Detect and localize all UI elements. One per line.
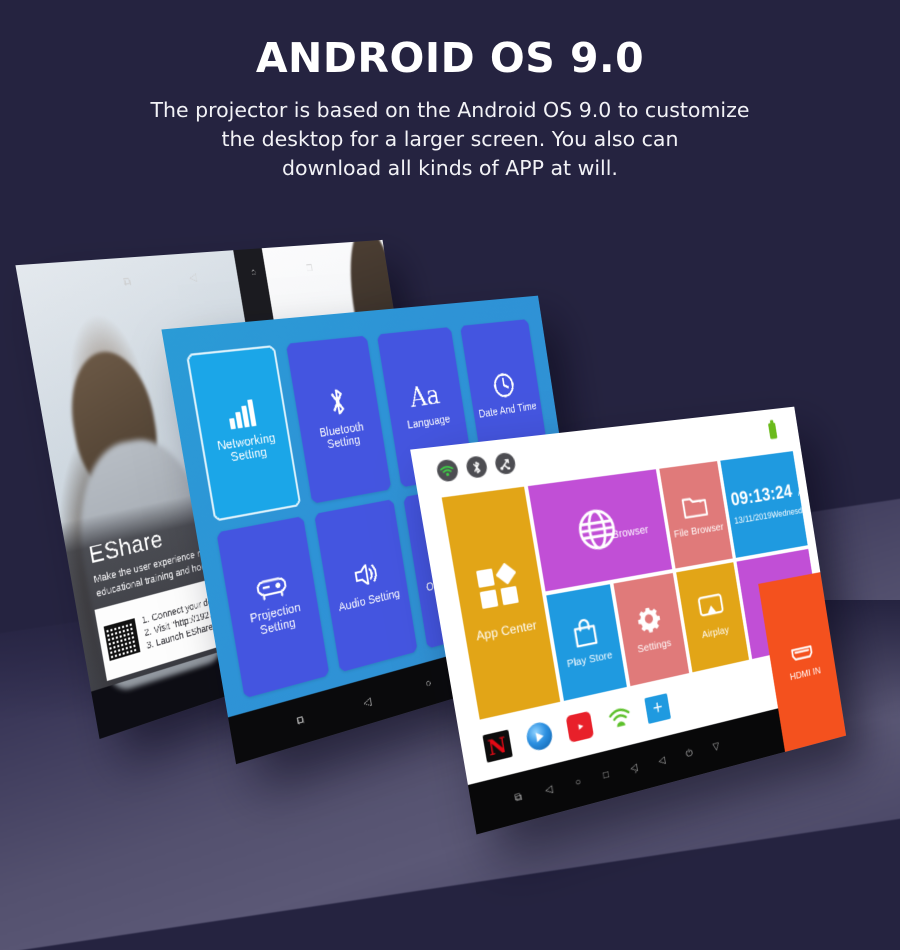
- tile-label: Bluetooth Setting: [304, 419, 380, 456]
- tile-label: Networking Setting: [205, 430, 289, 469]
- home-nav-icon[interactable]: ○: [574, 776, 581, 789]
- screenshot-nav-icon[interactable]: ⧉: [514, 791, 523, 804]
- language-aa-icon: Aa: [408, 381, 441, 411]
- back-nav-icon[interactable]: ◁: [544, 784, 553, 797]
- youtube-icon[interactable]: [566, 711, 594, 743]
- tile-airplay[interactable]: Airplay: [676, 562, 748, 671]
- wifi-status-icon[interactable]: [435, 459, 459, 483]
- tile-label: Projection Setting: [235, 599, 317, 644]
- clock-icon: [492, 371, 517, 400]
- netflix-icon[interactable]: N: [482, 730, 512, 763]
- battery-icon: [768, 423, 778, 440]
- bluetooth-icon: [324, 385, 351, 418]
- plus-icon[interactable]: +: [644, 694, 671, 725]
- folder-icon: [680, 491, 709, 520]
- subtitle-line-2: the desktop for a larger screen. You als…: [0, 125, 900, 154]
- tile-label: Settings: [637, 637, 673, 656]
- tile-bluetooth-setting[interactable]: Bluetooth Setting: [286, 335, 391, 504]
- subtitle-line-1: The projector is based on the Android OS…: [0, 96, 900, 125]
- usb-status-icon[interactable]: [493, 452, 516, 475]
- back-nav-icon[interactable]: ◁: [362, 694, 372, 709]
- screenshot-nav-icon[interactable]: ⧉: [296, 713, 306, 729]
- app-center-icon: [474, 561, 525, 614]
- tile-settings[interactable]: Settings: [613, 573, 689, 686]
- back-nav-icon[interactable]: ◁: [188, 270, 198, 284]
- tile-label: Play Store: [566, 649, 613, 671]
- screenshot-nav-icon[interactable]: ⧉: [122, 276, 132, 290]
- tile-label: HDMI IN: [789, 665, 821, 683]
- tile-label: Audio Setting: [338, 588, 401, 615]
- tile-label: Date And Time: [478, 401, 537, 422]
- tile-audio-setting[interactable]: Audio Setting: [314, 500, 417, 673]
- tile-label: Language: [407, 413, 451, 432]
- bluetooth-status-icon[interactable]: [464, 456, 488, 480]
- volume-down-nav-icon[interactable]: ◁̦: [630, 762, 639, 775]
- page-title: ANDROID OS 9.0: [0, 34, 900, 82]
- header: ANDROID OS 9.0 The projector is based on…: [0, 34, 900, 183]
- volume-up-nav-icon[interactable]: ◁: [658, 755, 666, 767]
- shopping-bag-icon: [571, 616, 600, 649]
- clock-date: 13/11/2019: [734, 510, 773, 526]
- globe-icon: [574, 506, 619, 554]
- tile-file-browser[interactable]: File Browser: [659, 461, 732, 569]
- eshare-wifi-icon[interactable]: [606, 702, 634, 733]
- tile-app-center[interactable]: App Center: [441, 486, 560, 719]
- tile-networking-setting[interactable]: Networking Setting: [186, 345, 301, 522]
- gear-icon: [636, 603, 665, 635]
- tile-play-store[interactable]: Play Store: [546, 584, 626, 700]
- photo-head-back: [61, 347, 166, 500]
- tile-browser[interactable]: Browser: [528, 469, 672, 592]
- hdmi-icon: [789, 640, 815, 665]
- promo-banner: ANDROID OS 9.0 The projector is based on…: [0, 0, 900, 950]
- signal-bars-icon: [225, 399, 259, 431]
- tile-label: App Center: [475, 618, 538, 644]
- tile-projection-setting[interactable]: Projection Setting: [217, 517, 329, 699]
- airplay-icon: [697, 592, 726, 623]
- home-nav-icon[interactable]: ○: [425, 677, 432, 690]
- collapse-nav-icon[interactable]: ▽: [712, 741, 720, 753]
- tile-label: Browser: [611, 524, 649, 542]
- clock-ampm: AM: [797, 487, 808, 498]
- projector-icon: [254, 574, 289, 604]
- page-subtitle: The projector is based on the Android OS…: [0, 96, 900, 183]
- clock-weekday: Wednesday: [771, 504, 808, 520]
- speaker-volume-icon: [351, 559, 380, 591]
- qr-code: [101, 616, 142, 664]
- tile-label: Airplay: [701, 624, 730, 641]
- power-nav-icon[interactable]: ⏻: [685, 748, 693, 760]
- tile-clock[interactable]: 09:13:24 AM 13/11/2019 Wednesday: [720, 451, 808, 558]
- tile-label: File Browser: [673, 520, 724, 540]
- subtitle-line-3: download all kinds of APP at will.: [0, 154, 900, 183]
- media-player-icon[interactable]: [525, 720, 554, 753]
- clock-time: 09:13:24: [729, 482, 793, 512]
- recents-nav-icon[interactable]: □: [602, 769, 609, 781]
